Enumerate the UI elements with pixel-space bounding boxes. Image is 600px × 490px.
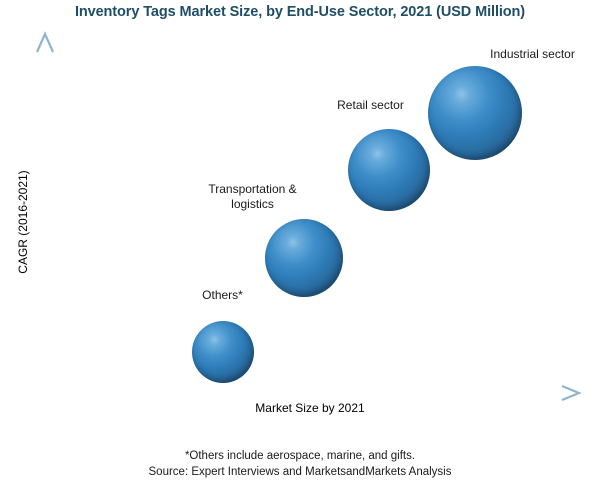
- bubble-label-industrial-sector: Industrial sector: [470, 47, 595, 62]
- chart-title: Inventory Tags Market Size, by End-Use S…: [0, 4, 600, 20]
- bubble-chart-figure: Inventory Tags Market Size, by End-Use S…: [0, 0, 600, 490]
- x-axis-label: Market Size by 2021: [185, 401, 435, 415]
- bubble-industrial-sector[interactable]: [428, 66, 522, 160]
- footnote-source: Source: Expert Interviews and Marketsand…: [0, 466, 600, 478]
- y-axis-line: [37, 34, 53, 393]
- bubble-label-others: Others*: [170, 288, 275, 303]
- footnote-others-note: *Others include aerospace, marine, and g…: [0, 450, 600, 462]
- y-axis-label: CAGR (2016-2021): [16, 137, 30, 307]
- bubble-retail-sector[interactable]: [348, 129, 430, 211]
- x-axis-line: [45, 386, 579, 400]
- bubble-label-retail-sector: Retail sector: [318, 98, 423, 113]
- bubble-label-transportation-logistics: Transportation & logistics: [185, 182, 320, 212]
- bubble-others[interactable]: [192, 321, 254, 383]
- bubble-transportation-logistics[interactable]: [265, 219, 343, 297]
